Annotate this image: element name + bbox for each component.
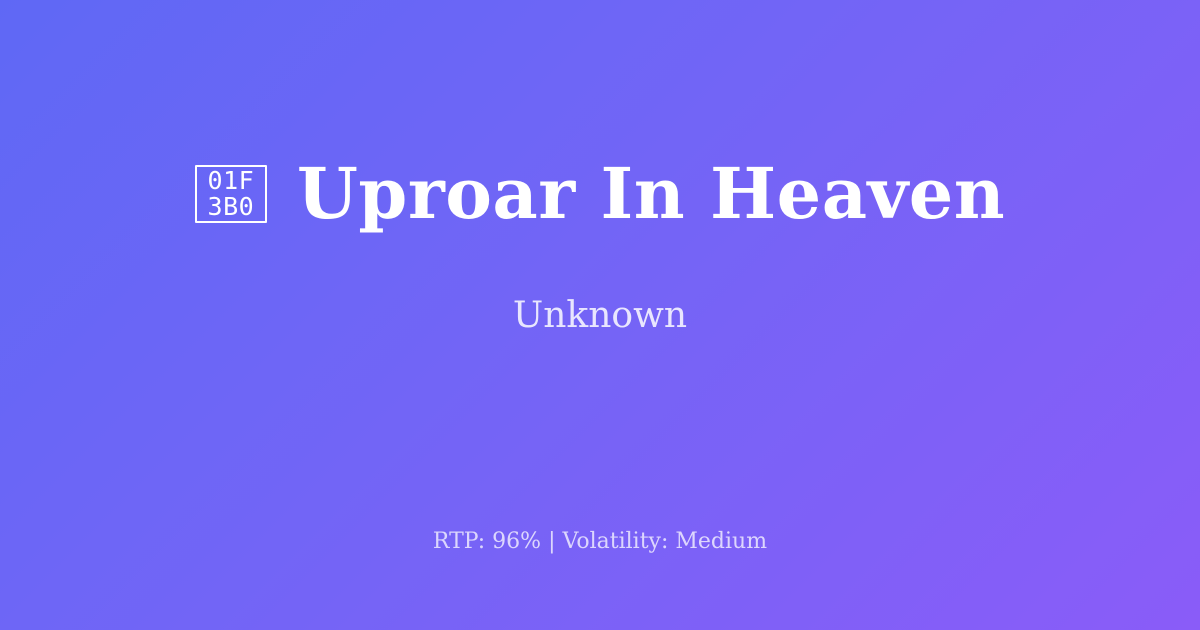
tofu-codepoint-top: 01F <box>208 168 255 194</box>
card-hero: 01F 3B0 Uproar In Heaven Unknown <box>0 0 1200 470</box>
slot-machine-icon: 01F 3B0 <box>195 165 267 223</box>
card-subtitle: Unknown <box>513 294 687 337</box>
tofu-codepoint-bottom: 3B0 <box>208 194 255 220</box>
game-preview-card: 01F 3B0 Uproar In Heaven Unknown RTP: 96… <box>0 0 1200 630</box>
game-stats-text: RTP: 96% | Volatility: Medium <box>433 529 767 554</box>
card-footer: RTP: 96% | Volatility: Medium <box>0 528 1200 556</box>
page-title: Uproar In Heaven <box>297 157 1005 231</box>
title-row: 01F 3B0 Uproar In Heaven <box>0 157 1200 231</box>
